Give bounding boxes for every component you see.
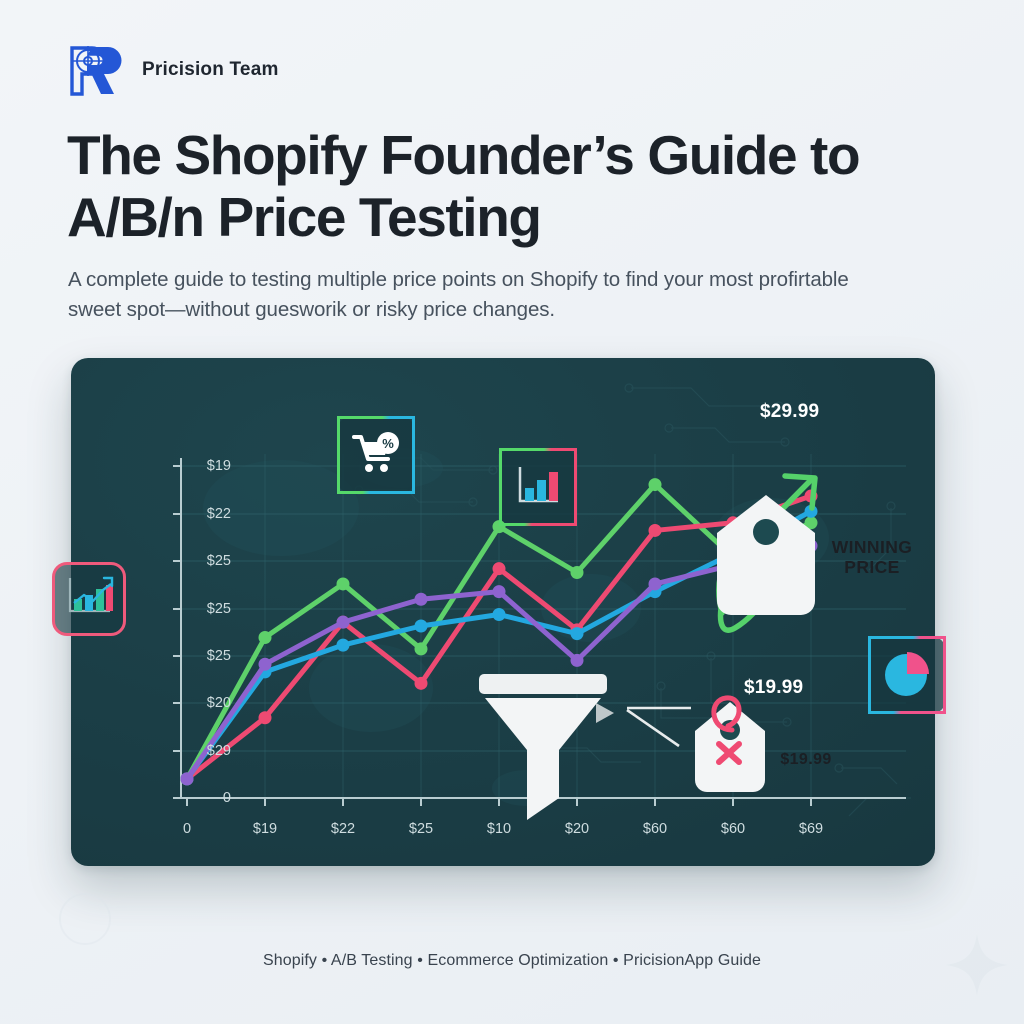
y-tick-7: 0 (223, 790, 231, 806)
y-tick-4: $25 (207, 648, 231, 664)
page-subtitle: A complete guide to testing multiple pri… (68, 265, 868, 326)
winning-price-value: $29.99 (760, 401, 819, 423)
growth-bar-chart-arrow-icon (64, 575, 114, 624)
y-tick-0: $19 (207, 458, 231, 474)
footer-tags: Shopify • A/B Testing • Ecommerce Optimi… (0, 952, 1024, 970)
growth-chart-badge[interactable] (52, 562, 126, 636)
x-tick-3: $25 (409, 821, 433, 837)
tag-shape-icon (713, 493, 819, 617)
tag-loop-icon (700, 686, 760, 746)
x-tick-4: $10 (487, 821, 511, 837)
shopping-cart-percent-icon: % (351, 431, 401, 480)
winning-price-tag-label: WINNING PRICE (819, 537, 925, 578)
x-tick-5: $20 (565, 821, 589, 837)
brand-name: Pricision Team (142, 59, 279, 81)
pie-chart-icon (880, 646, 934, 705)
y-tick-6: $29 (207, 743, 231, 759)
y-tick-3: $25 (207, 601, 231, 617)
brand-header: Pricision Team (68, 44, 279, 96)
y-axis-labels: $19 $22 $25 $25 $25 $20 $29 0 (131, 358, 231, 866)
bar-chart-badge[interactable] (499, 448, 577, 526)
cart-discount-badge[interactable]: % (337, 416, 415, 494)
x-tick-0: 0 (183, 821, 191, 837)
svg-text:%: % (382, 436, 394, 451)
x-tick-2: $22 (331, 821, 355, 837)
triangle-pointer-icon (596, 703, 691, 746)
x-tick-6: $60 (643, 821, 667, 837)
winning-price-tag[interactable]: WINNING PRICE (713, 493, 819, 622)
y-tick-5: $20 (207, 695, 231, 711)
y-tick-2: $25 (207, 553, 231, 569)
losing-price-tag-label: $19.99 (768, 751, 844, 770)
y-tick-1: $22 (207, 506, 231, 522)
page-title: The Shopify Founder’s Guide to A/B/n Pri… (67, 125, 947, 248)
x-tick-7: $60 (721, 821, 745, 837)
x-tick-1: $19 (253, 821, 277, 837)
bar-chart-icon (514, 463, 562, 512)
pr-target-logo-icon (68, 44, 124, 96)
x-tick-8: $69 (799, 821, 823, 837)
sparkle-decor-icon (58, 892, 112, 946)
pie-chart-badge[interactable] (868, 636, 946, 714)
